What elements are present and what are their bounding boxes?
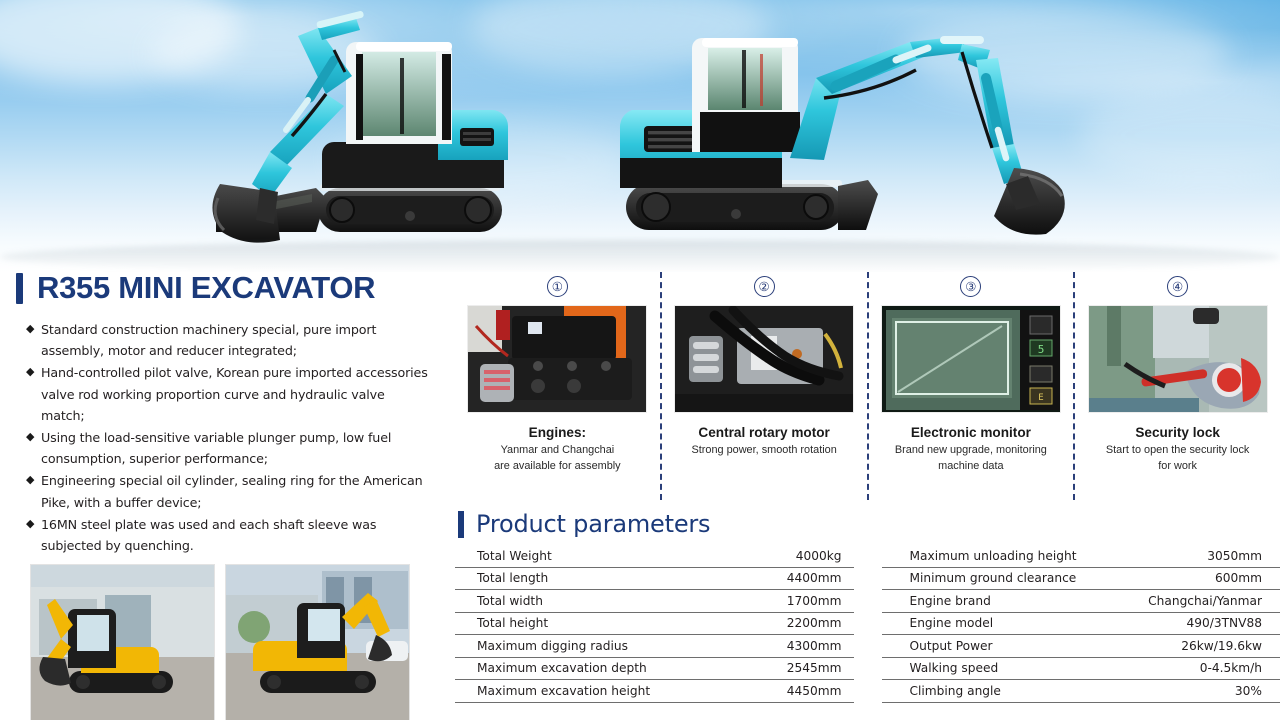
callout-central-rotary-motor: ② Central rotary motor Strong power, smo… xyxy=(660,272,867,500)
product-overview-column: R355 MINI EXCAVATOR ◆ Standard construct… xyxy=(0,266,452,720)
parameters-heading-row: Product parameters xyxy=(455,505,1280,543)
engine-photo xyxy=(467,305,647,413)
hero-banner xyxy=(0,0,1280,272)
callout-title: Central rotary motor xyxy=(698,425,829,440)
diamond-bullet-icon: ◆ xyxy=(26,427,41,469)
parameter-label: Total height xyxy=(477,616,548,630)
parameter-value: 4400mm xyxy=(787,571,842,585)
diamond-bullet-icon: ◆ xyxy=(26,362,41,426)
table-row: Output Power 26kw/19.6kw xyxy=(882,635,1280,658)
parameter-value: 490/3TNV88 xyxy=(1186,616,1262,630)
callout-title: Electronic monitor xyxy=(911,425,1031,440)
table-row: Engine model 490/3TNV88 xyxy=(882,613,1280,636)
callout-title: Security lock xyxy=(1135,425,1220,440)
diamond-bullet-icon: ◆ xyxy=(26,514,41,556)
parameter-label: Walking speed xyxy=(910,661,999,675)
callout-subtitle: Brand new upgrade, monitoringmachine dat… xyxy=(873,443,1069,474)
list-item: ◆ Engineering special oil cylinder, seal… xyxy=(26,470,430,512)
table-row: Engine brand Changchai/Yanmar xyxy=(882,590,1280,613)
parameter-value: 3050mm xyxy=(1207,549,1262,563)
feature-text: Hand-controlled pilot valve, Korean pure… xyxy=(41,362,430,426)
table-row: Total Weight 4000kg xyxy=(455,545,854,568)
callout-number: ② xyxy=(754,276,775,297)
section-title: Product parameters xyxy=(476,510,710,538)
callout-security-lock: ④ Security lock Start to open the securi… xyxy=(1073,272,1280,500)
callout-subtitle: Start to open the security lockfor work xyxy=(1080,443,1276,474)
callout-title: Engines: xyxy=(529,425,586,440)
table-row: Minimum ground clearance 600mm xyxy=(882,568,1280,591)
excavator-photo-side xyxy=(30,564,215,720)
callout-electronic-monitor: ③ 5 E Electronic monitor Brand new upgra… xyxy=(867,272,1074,500)
parameters-table-left: Total Weight 4000kg Total length 4400mm … xyxy=(455,545,854,703)
table-row: Total width 1700mm xyxy=(455,590,854,613)
parameter-label: Maximum excavation height xyxy=(477,684,650,698)
parameter-label: Climbing angle xyxy=(910,684,1001,698)
feature-text: Engineering special oil cylinder, sealin… xyxy=(41,470,430,512)
table-row: Maximum excavation depth 2545mm xyxy=(455,658,854,681)
parameter-label: Output Power xyxy=(910,639,993,653)
table-row: Maximum digging radius 4300mm xyxy=(455,635,854,658)
parameter-label: Total Weight xyxy=(477,549,552,563)
parameter-value: 26kw/19.6kw xyxy=(1181,639,1262,653)
list-item: ◆ Standard construction machinery specia… xyxy=(26,319,430,361)
list-item: ◆ Using the load-sensitive variable plun… xyxy=(26,427,430,469)
parameter-value: 4300mm xyxy=(787,639,842,653)
table-row: Maximum excavation height 4450mm xyxy=(455,680,854,703)
callout-number: ④ xyxy=(1167,276,1188,297)
callout-engines: ① Engines: Yanmar and Changchaiar xyxy=(455,272,660,500)
parameter-value: 2545mm xyxy=(787,661,842,675)
parameter-value: 30% xyxy=(1235,684,1262,698)
table-row: Maximum unloading height 3050mm xyxy=(882,545,1280,568)
table-row: Climbing angle 30% xyxy=(882,680,1280,703)
central-rotary-motor-photo xyxy=(674,305,854,413)
feature-list: ◆ Standard construction machinery specia… xyxy=(26,319,430,556)
security-lock-photo xyxy=(1088,305,1268,413)
feature-callouts: ① Engines: Yanmar and Changchaiar xyxy=(455,272,1280,500)
parameters-tables: Total Weight 4000kg Total length 4400mm … xyxy=(455,545,1280,703)
product-parameters-section: Product parameters Total Weight 4000kg T… xyxy=(455,505,1280,720)
parameter-value: 4000kg xyxy=(796,549,842,563)
electronic-monitor-photo: 5 E xyxy=(881,305,1061,413)
parameter-value: 600mm xyxy=(1215,571,1262,585)
svg-text:5: 5 xyxy=(1038,343,1045,356)
parameters-table-right: Maximum unloading height 3050mm Minimum … xyxy=(882,545,1280,703)
feature-text: Using the load-sensitive variable plunge… xyxy=(41,427,430,469)
product-photo-row xyxy=(30,564,452,720)
feature-text: Standard construction machinery special,… xyxy=(41,319,430,361)
callout-number: ① xyxy=(547,276,568,297)
product-title-row: R355 MINI EXCAVATOR xyxy=(0,266,452,310)
callout-number: ③ xyxy=(960,276,981,297)
parameter-value: 2200mm xyxy=(787,616,842,630)
parameter-value: 1700mm xyxy=(787,594,842,608)
list-item: ◆ Hand-controlled pilot valve, Korean pu… xyxy=(26,362,430,426)
page-title: R355 MINI EXCAVATOR xyxy=(37,270,375,306)
callout-subtitle: Yanmar and Changchaiare available for as… xyxy=(459,443,655,474)
svg-text:E: E xyxy=(1038,393,1043,403)
parameter-label: Maximum excavation depth xyxy=(477,661,647,675)
parameter-label: Maximum digging radius xyxy=(477,639,628,653)
mini-excavator-right xyxy=(610,8,1180,260)
table-row: Walking speed 0-4.5km/h xyxy=(882,658,1280,681)
parameter-value: Changchai/Yanmar xyxy=(1148,594,1262,608)
title-accent-bar xyxy=(16,273,23,304)
parameter-label: Total length xyxy=(477,571,548,585)
parameter-value: 0-4.5km/h xyxy=(1200,661,1262,675)
parameter-label: Total width xyxy=(477,594,543,608)
table-row: Total length 4400mm xyxy=(455,568,854,591)
diamond-bullet-icon: ◆ xyxy=(26,319,41,361)
parameters-accent-bar xyxy=(458,511,464,538)
parameter-label: Minimum ground clearance xyxy=(910,571,1077,585)
callout-subtitle: Strong power, smooth rotation xyxy=(666,443,862,459)
feature-text: 16MN steel plate was used and each shaft… xyxy=(41,514,430,556)
parameter-value: 4450mm xyxy=(787,684,842,698)
parameter-label: Maximum unloading height xyxy=(910,549,1077,563)
mini-excavator-left xyxy=(120,2,590,260)
list-item: ◆ 16MN steel plate was used and each sha… xyxy=(26,514,430,556)
table-row: Total height 2200mm xyxy=(455,613,854,636)
excavator-photo-rear xyxy=(225,564,410,720)
parameter-label: Engine model xyxy=(910,616,994,630)
diamond-bullet-icon: ◆ xyxy=(26,470,41,512)
parameter-label: Engine brand xyxy=(910,594,991,608)
